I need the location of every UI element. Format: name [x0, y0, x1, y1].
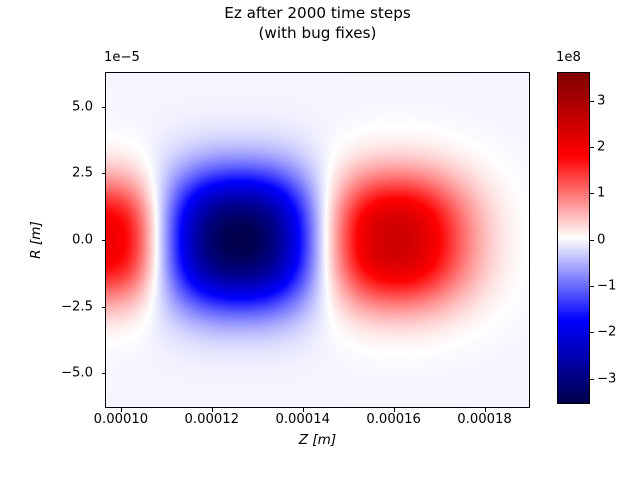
x-tick-label-3: 0.00016	[366, 412, 421, 427]
x-tick-label-2: 0.00014	[275, 412, 330, 427]
colorbar-tick-mark-3	[590, 240, 594, 241]
colorbar-tick-label-3: 0	[597, 232, 605, 247]
x-tick-mark-0	[121, 408, 122, 412]
x-tick-label-4: 0.00018	[457, 412, 512, 427]
heatmap-image	[106, 73, 529, 407]
colorbar-tick-label-5: −2	[597, 325, 616, 340]
colorbar-tick-label-4: −1	[597, 278, 616, 293]
matplotlib-figure: Ez after 2000 time steps (with bug fixes…	[0, 0, 640, 480]
colorbar-tick-label-6: −3	[597, 371, 616, 386]
colorbar	[557, 72, 590, 404]
colorbar-tick-mark-5	[590, 332, 594, 333]
x-tick-mark-1	[212, 408, 213, 412]
x-tick-label-0: 0.00010	[94, 412, 149, 427]
plot-axes	[105, 72, 530, 408]
x-axis-label: Z [m]	[105, 432, 530, 448]
y-tick-label-3: −2.5	[61, 299, 93, 314]
y-tick-mark-0	[102, 107, 106, 108]
colorbar-tick-mark-1	[590, 147, 594, 148]
y-tick-mark-4	[102, 373, 106, 374]
colorbar-tick-mark-4	[590, 286, 594, 287]
x-tick-mark-2	[303, 408, 304, 412]
title-line-1: Ez after 2000 time steps	[105, 4, 530, 24]
colorbar-offset-text: 1e8	[556, 50, 581, 65]
y-tick-label-4: −5.0	[61, 366, 93, 381]
y-tick-label-0: 5.0	[72, 99, 93, 114]
colorbar-tick-label-0: 3	[597, 93, 605, 108]
y-tick-label-1: 2.5	[72, 166, 93, 181]
y-tick-label-2: 0.0	[72, 233, 93, 248]
y-tick-mark-3	[102, 307, 106, 308]
title-line-2: (with bug fixes)	[105, 24, 530, 44]
page-title: Ez after 2000 time steps (with bug fixes…	[105, 4, 530, 43]
y-axis-label: R [m]	[28, 200, 44, 280]
colorbar-tick-mark-6	[590, 379, 594, 380]
colorbar-gradient	[558, 73, 589, 403]
y-axis-offset-text: 1e−5	[104, 50, 140, 65]
y-tick-mark-2	[102, 240, 106, 241]
colorbar-tick-mark-0	[590, 101, 594, 102]
colorbar-tick-mark-2	[590, 193, 594, 194]
colorbar-tick-label-1: 2	[597, 140, 605, 155]
x-tick-mark-3	[394, 408, 395, 412]
x-tick-mark-4	[485, 408, 486, 412]
y-tick-mark-1	[102, 173, 106, 174]
colorbar-tick-label-2: 1	[597, 186, 605, 201]
x-tick-label-1: 0.00012	[185, 412, 240, 427]
